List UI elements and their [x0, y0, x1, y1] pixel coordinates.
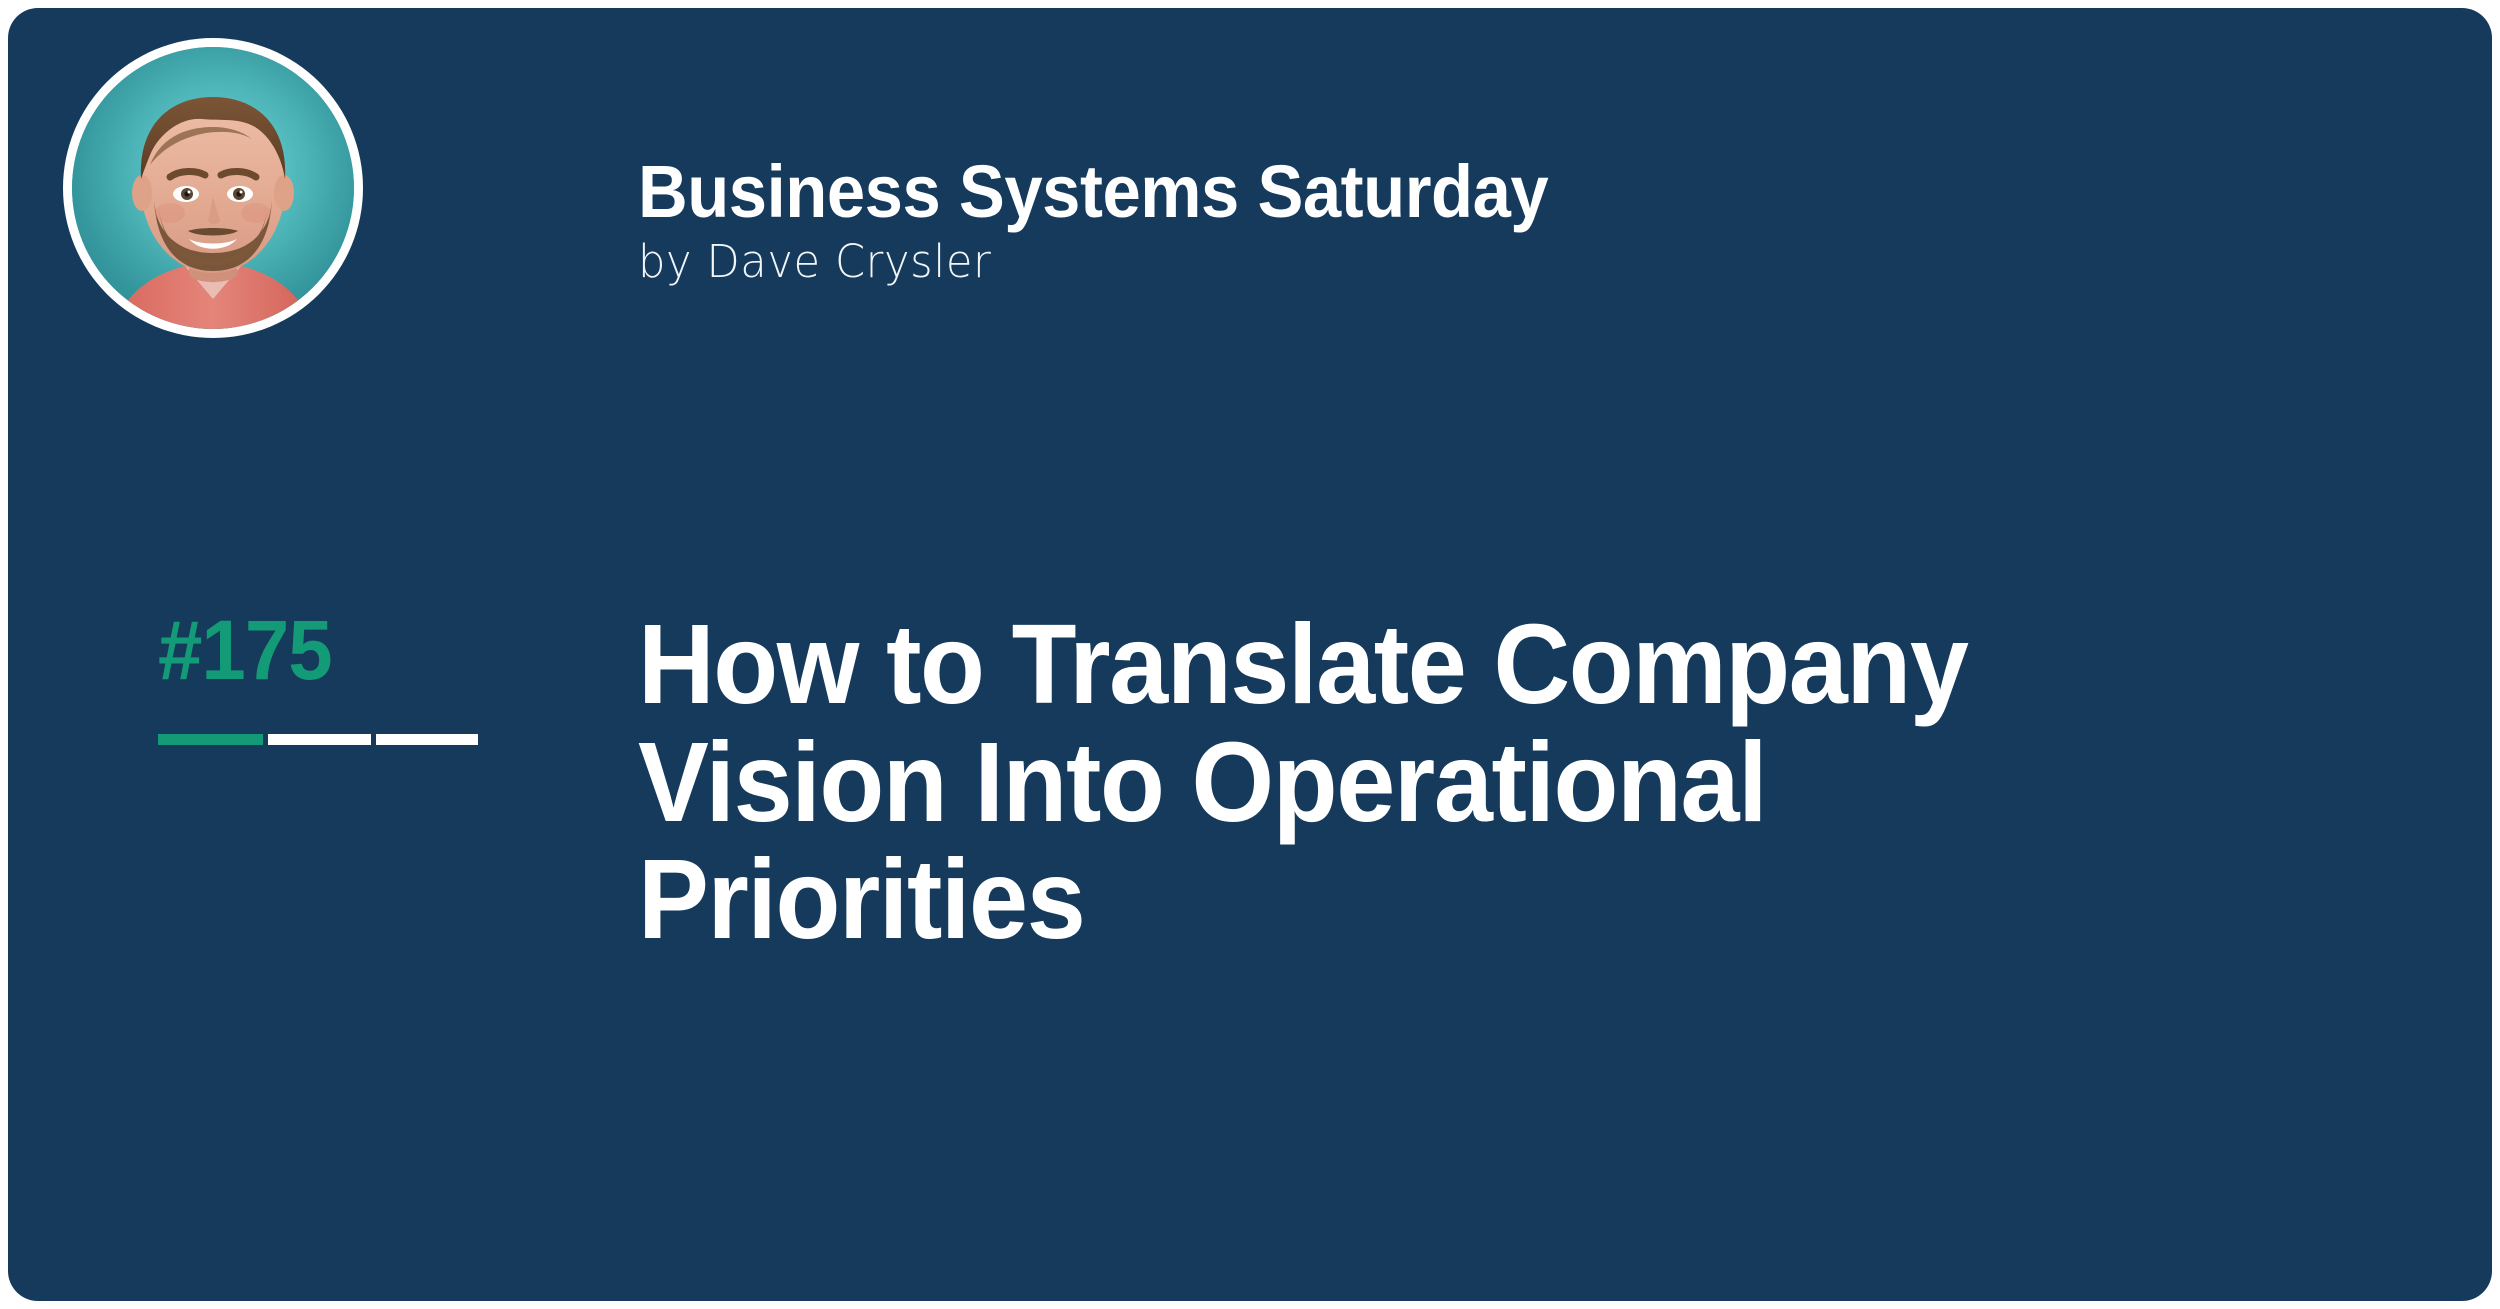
publication-byline: by Dave Crysler [638, 239, 2270, 284]
avatar-photo [72, 47, 354, 329]
cover-canvas: Business Systems Saturday by Dave Crysle… [0, 0, 2500, 1309]
issue-number: #175 [158, 608, 481, 692]
masthead: Business Systems Saturday by Dave Crysle… [638, 156, 2338, 284]
cover-card: Business Systems Saturday by Dave Crysle… [8, 8, 2492, 1301]
issue-rule-segment-empty [268, 734, 371, 745]
avatar [63, 38, 363, 338]
issue-block: #175 [158, 608, 498, 745]
publication-title: Business Systems Saturday [638, 156, 2219, 227]
issue-rule-segment-filled [158, 734, 263, 745]
issue-rule-segment-empty [376, 734, 479, 745]
headline-line-3: Priorities [638, 841, 2339, 959]
headline-line-2: Vision Into Operational [638, 724, 2339, 842]
headline: How to Translate Company Vision Into Ope… [638, 606, 2448, 959]
avatar-background [72, 47, 354, 329]
issue-rule [158, 734, 478, 745]
headline-line-1: How to Translate Company [638, 606, 2339, 724]
